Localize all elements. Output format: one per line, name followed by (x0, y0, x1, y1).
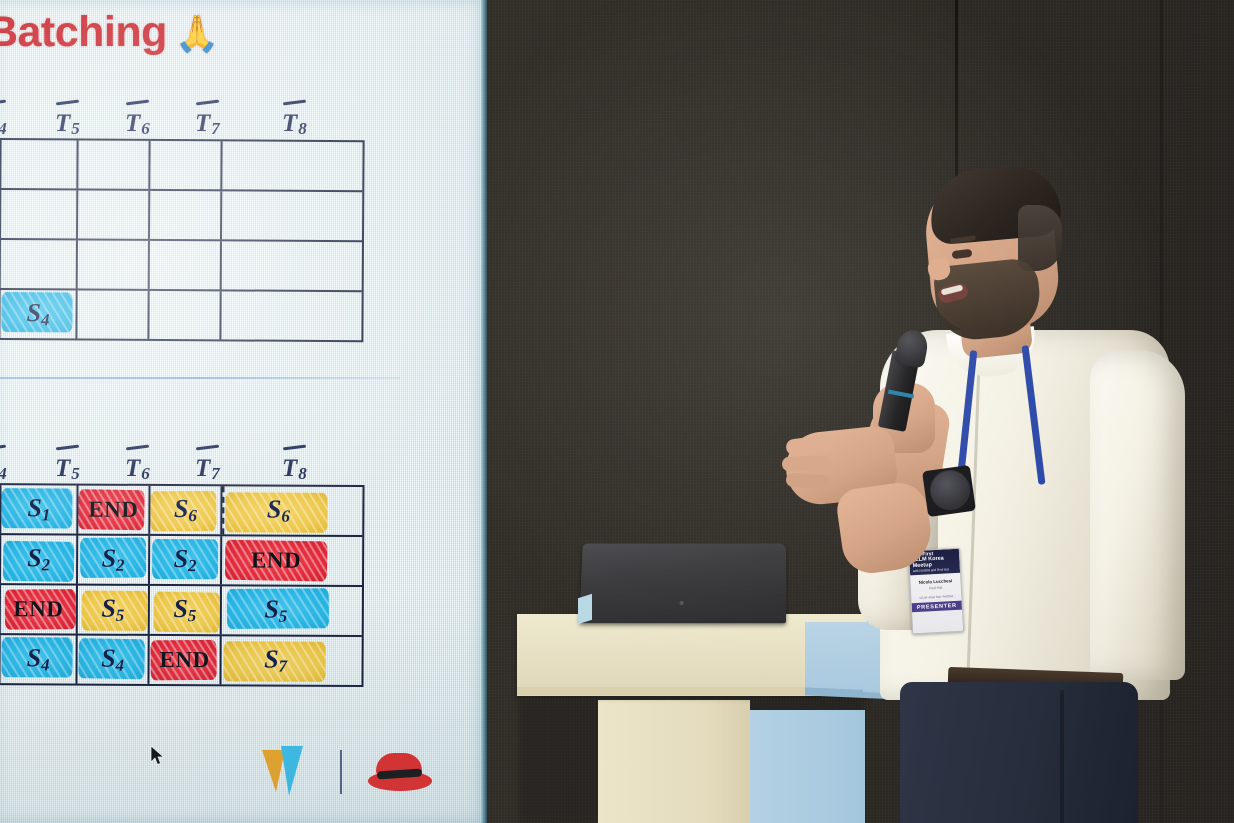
cell-label: END (160, 647, 210, 673)
header-t6-lower: T6 (125, 455, 150, 484)
header-t4-lower: T4 (0, 455, 7, 484)
cell-label: END (13, 596, 63, 622)
praying-hands-emoji: 🙏 (175, 13, 219, 54)
grid-row (0, 140, 363, 192)
slide-title-text: ative Batching (0, 8, 167, 56)
upper-grid: S4S4 (0, 138, 365, 342)
laptop-lid[interactable] (579, 543, 786, 623)
grid-cell-T6-r4 (77, 290, 149, 338)
grid-cell-T7-r2: S2 (150, 536, 222, 584)
mouse-cursor (150, 745, 166, 767)
header-t7: T7 (195, 110, 220, 139)
header-t8: T8 (282, 110, 307, 139)
grid-row (0, 190, 362, 242)
cell-label: S6 (174, 494, 197, 526)
header-t8-lower: T8 (282, 455, 307, 484)
header-t4: T4 (0, 110, 7, 139)
cell-label: S2 (102, 544, 125, 576)
grid-cell-T6-r1: END (78, 486, 150, 534)
lower-grid-headers: T4 T5 T6 T7 T8 (0, 440, 362, 484)
badge-role: PRESENTER (912, 601, 962, 613)
cell-label: S5 (101, 594, 124, 626)
laptop-left-gap (578, 594, 592, 625)
cell-label: END (251, 547, 301, 573)
presenter-shoulder-right (1090, 350, 1185, 680)
grid-cell-T8-r3 (222, 241, 330, 290)
grid-cell-T6-r2: S2 (78, 536, 150, 584)
presenter-hair-side (1018, 205, 1062, 271)
grid-cell-T8-r4 (221, 291, 329, 340)
lower-grid-block: T4 T5 T6 T7 T8 S1ENDS6S6S2S2S2S2ENDS3END… (0, 440, 362, 686)
grid-cell-T7-r1 (150, 141, 222, 189)
grid-cell-T7-r1: S6 (150, 486, 222, 534)
grid-row (0, 240, 362, 292)
cell-label: S4 (27, 643, 50, 675)
projection-screen: ative Batching🙏 T4 T5 T6 T7 T8 S4S4 T4 T… (0, 0, 487, 823)
grid-cell-T7-r3 (150, 241, 222, 289)
screen-right-edge (481, 0, 487, 823)
podium-column-blue-panel (750, 710, 865, 823)
cell-label: END (88, 497, 138, 523)
cell-label: S5 (264, 595, 287, 627)
header-t5-lower: T5 (55, 455, 80, 484)
cell-label: S6 (267, 495, 290, 527)
grid-cell-T5-r1 (1, 140, 78, 188)
red-hat-logo-icon (368, 751, 432, 793)
cell-label: S7 (264, 645, 287, 677)
grid-cell-T6-r3: S5 (78, 586, 150, 634)
presenter-finger-3 (786, 472, 831, 489)
grid-cell-T6-r3 (78, 240, 150, 288)
grid-row: S4S4 (0, 290, 362, 340)
grid-cell-T5-r2 (1, 190, 78, 238)
grid-cell-T5-r2: S2 (1, 535, 78, 583)
header-t6: T6 (125, 110, 150, 139)
grid-cell-T8-r2 (222, 191, 330, 240)
grid-cell-T8-r2: END (222, 536, 330, 585)
grid-cell-T7-r2 (150, 191, 222, 239)
grid-cell-T5-r3: END (1, 585, 78, 633)
slide-footer-logos (262, 748, 432, 796)
upper-grid-block: T4 T5 T6 T7 T8 S4S4 (0, 95, 362, 341)
grid-row: S1ENDS6S6 (0, 485, 363, 537)
grid-cell-T5-r1: S1 (1, 485, 78, 533)
grid-cell-T7-r3: S5 (150, 586, 222, 634)
grid-cell-T7-r4: END (149, 636, 221, 684)
presenter-watch-face (930, 470, 970, 510)
grid-cell-T6-r4: S4 (77, 636, 149, 684)
cell-label: S4 (26, 298, 49, 330)
presenter-finger-2 (782, 455, 830, 472)
badge-name: Nicolo Lucchesi (912, 578, 958, 585)
grid-cell-T8-r1 (222, 141, 330, 190)
lower-grid: S1ENDS6S6S2S2S2S2ENDS3ENDS5S5S5S4S4S4END… (0, 483, 365, 687)
trouser-seam (1060, 690, 1064, 823)
grid-divider (0, 377, 400, 379)
header-t7-lower: T7 (195, 455, 220, 484)
logo-divider-icon (340, 750, 342, 794)
grid-cell-T5-r4: S4 (0, 290, 77, 338)
grid-cell-T6-r1 (78, 140, 150, 188)
grid-cell-T7-r4 (149, 291, 221, 339)
podium-column (598, 700, 750, 823)
cell-label: S2 (27, 543, 50, 575)
badge-body: Nicolo Lucchesi Red Hat (910, 573, 961, 597)
cell-label: S4 (101, 644, 124, 676)
grid-row: S2S2S2S2END (0, 535, 362, 587)
grid-row: S3ENDS5S5S5 (0, 585, 362, 637)
vllm-logo-icon (262, 748, 314, 796)
badge-org: Red Hat (913, 585, 959, 591)
grid-cell-T5-r3 (1, 240, 78, 288)
cell-label: S1 (27, 493, 50, 525)
cell-label: S2 (174, 544, 197, 576)
grid-cell-T5-r4: S4 (0, 635, 77, 683)
upper-grid-headers: T4 T5 T6 T7 T8 (0, 95, 362, 139)
presenter-trousers (900, 682, 1138, 823)
screenshot-root: ative Batching🙏 T4 T5 T6 T7 T8 S4S4 T4 T… (0, 0, 1234, 823)
header-t5: T5 (55, 110, 80, 139)
grid-row: S4S4S4ENDS7 (0, 635, 362, 685)
grid-cell-T6-r2 (78, 190, 150, 238)
cell-label: S5 (173, 594, 196, 626)
grid-cell-T8-r1: S6 (222, 486, 332, 535)
grid-cell-T8-r3: S5 (222, 586, 330, 635)
grid-cell-T8-r4: S7 (221, 636, 329, 685)
slide-title: ative Batching🙏 (0, 8, 400, 57)
